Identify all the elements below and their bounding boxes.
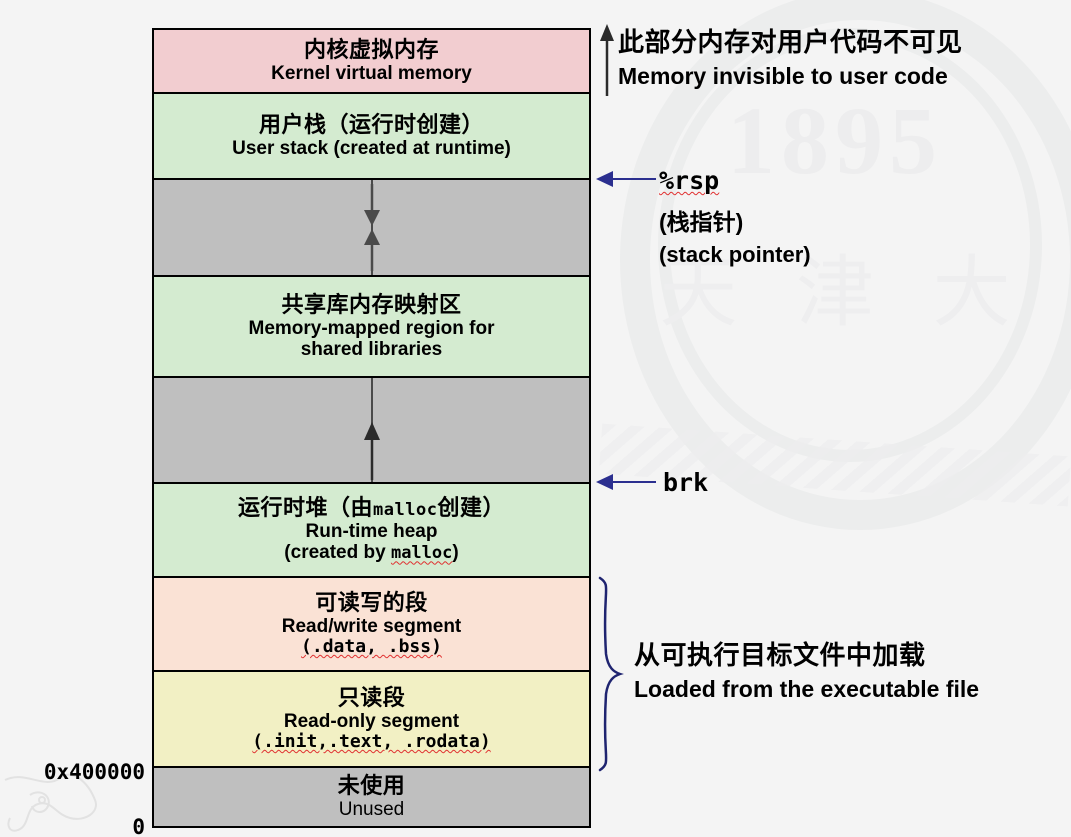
rsp-pointer-arrow (596, 168, 658, 190)
address-label-code-start: 0x400000 (0, 760, 145, 784)
kernel-note-annotation: 此部分内存对用户代码不可见 Memory invisible to user c… (618, 22, 963, 90)
kernel-note-en: Memory invisible to user code (618, 63, 963, 90)
ro-segment-sections: (.init,.text, .rodata) (252, 732, 490, 752)
memory-block-memory-mapped-region: 共享库内存映射区 Memory-mapped region for shared… (154, 277, 589, 378)
heap-label-cn: 运行时堆（由malloc创建） (238, 496, 505, 521)
memory-block-heap-gap (154, 378, 589, 484)
memory-block-unused: 未使用 Unused (154, 768, 589, 826)
heap-grows-up-arrow (360, 227, 384, 271)
heap-label-cn-prefix: 运行时堆（由 (238, 495, 373, 520)
memory-block-run-time-heap: 运行时堆（由malloc创建） Run-time heap (created b… (154, 484, 589, 578)
rw-segment-label-cn: 可读写的段 (315, 591, 428, 616)
kernel-label-cn: 内核虚拟内存 (304, 38, 439, 63)
memory-block-read-only-segment: 只读段 Read-only segment (.init,.text, .rod… (154, 672, 589, 768)
rsp-register-label: %rsp (659, 166, 811, 195)
heap-label-paren: ) (452, 542, 458, 563)
unused-label-cn: 未使用 (338, 774, 406, 799)
kernel-label-en: Kernel virtual memory (271, 63, 472, 84)
loaded-from-executable-annotation: 从可执行目标文件中加载 Loaded from the executable f… (634, 635, 979, 703)
memory-block-read-write-segment: 可读写的段 Read/write segment (.data, .bss) (154, 578, 589, 672)
heap-label-cn-suffix: 创建） (437, 495, 505, 520)
brk-pointer-arrow (596, 471, 658, 493)
rw-segment-sections: (.data, .bss) (301, 637, 442, 657)
rsp-note-en: (stack pointer) (659, 242, 811, 268)
stack-grows-down-arrow (360, 184, 384, 228)
ro-segment-label-en: Read-only segment (284, 711, 459, 732)
ro-segment-label-cn: 只读段 (338, 686, 406, 711)
slide-canvas: 1895 天 津 大 内核虚拟内存 Kernel virtual memory … (0, 0, 1071, 837)
heap-expand-up-arrow (360, 422, 384, 480)
virtual-memory-column: 内核虚拟内存 Kernel virtual memory 用户栈（运行时创建） … (152, 28, 591, 828)
unused-label-en: Unused (339, 799, 405, 820)
memory-block-stack-gap (154, 180, 589, 277)
kernel-note-cn: 此部分内存对用户代码不可见 (618, 22, 963, 59)
mmap-label-en-line1: Memory-mapped region for (249, 318, 495, 339)
heap-created-by-text: (created by (284, 542, 391, 563)
rsp-note-cn: (栈指针) (659, 203, 811, 237)
address-label-zero: 0 (0, 815, 145, 837)
loaded-note-cn: 从可执行目标文件中加载 (634, 635, 979, 672)
rw-segment-label-en: Read/write segment (282, 616, 462, 637)
memory-block-kernel-virtual-memory: 内核虚拟内存 Kernel virtual memory (154, 30, 589, 94)
mmap-label-cn: 共享库内存映射区 (281, 293, 461, 318)
brk-pointer-label: brk (663, 468, 708, 497)
heap-label-en-line2: (created by malloc) (284, 542, 458, 563)
user-stack-label-cn: 用户栈（运行时创建） (259, 113, 484, 138)
loaded-segments-brace (596, 576, 622, 772)
kernel-extent-arrow (597, 24, 617, 98)
university-crest-watermark: 1895 天 津 大 (600, 0, 1070, 620)
heap-label-en-line1: Run-time heap (306, 521, 438, 542)
mmap-label-en-line2: shared libraries (301, 339, 443, 360)
heap-label-cn-mono: malloc (373, 500, 437, 520)
memory-block-user-stack: 用户栈（运行时创建） User stack (created at runtim… (154, 94, 589, 180)
loaded-note-en: Loaded from the executable file (634, 676, 979, 703)
user-stack-label-en: User stack (created at runtime) (232, 138, 511, 159)
brk-annotation: brk (663, 468, 708, 497)
crest-char-3: 大 (933, 230, 1011, 342)
rsp-annotation: %rsp (栈指针) (stack pointer) (659, 166, 811, 268)
heap-malloc-mono: malloc (391, 543, 452, 563)
